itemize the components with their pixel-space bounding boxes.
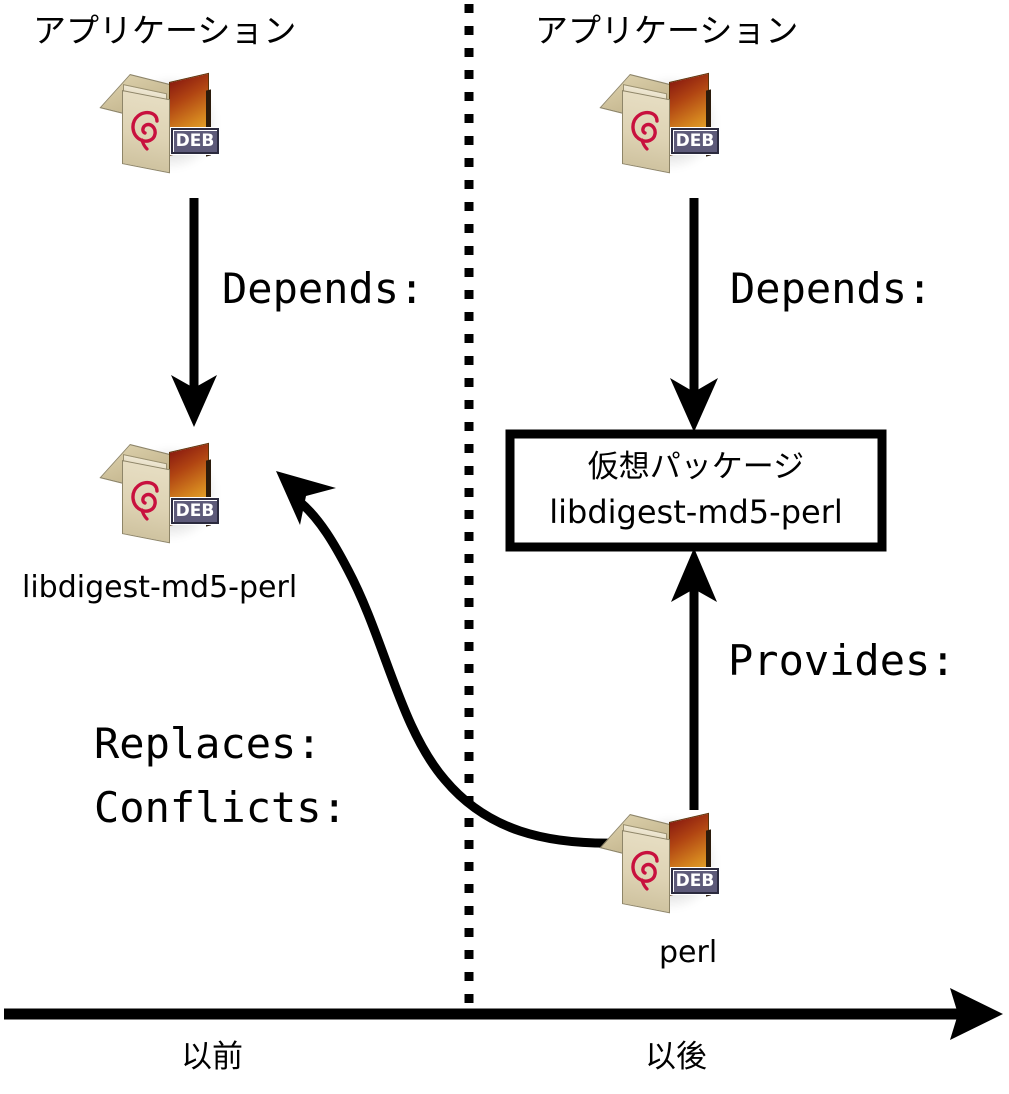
timeline-axis-arrow	[4, 988, 1003, 1040]
timeline-before-label: 以前	[181, 1042, 243, 1073]
right-depends-arrow	[670, 198, 718, 432]
conflicts-label: Conflicts:	[94, 787, 347, 829]
debian-swirl-icon	[127, 478, 167, 522]
debian-swirl-icon	[127, 108, 167, 152]
provides-label: Provides:	[728, 640, 956, 682]
libdigest-md5-perl-deb-package-icon: DEB	[116, 430, 224, 546]
diagram-canvas: アプリケーション アプリケーション DEB	[0, 0, 1009, 1094]
provides-arrow	[671, 548, 717, 810]
perl-deb-package-icon: DEB	[616, 800, 724, 916]
replaces-label: Replaces:	[94, 723, 322, 765]
deb-badge: DEB	[171, 128, 219, 154]
debian-swirl-icon	[627, 108, 667, 152]
virtual-package-name: libdigest-md5-perl	[522, 496, 870, 528]
left-depends-label: Depends:	[222, 268, 424, 310]
timeline-after-label: 以後	[645, 1042, 707, 1073]
left-package-name-label: libdigest-md5-perl	[22, 573, 297, 603]
right-app-title: アプリケーション	[535, 14, 798, 47]
deb-badge: DEB	[171, 498, 219, 524]
left-app-title: アプリケーション	[33, 14, 296, 47]
debian-swirl-icon	[627, 848, 667, 892]
left-app-deb-package-icon: DEB	[116, 60, 224, 176]
right-app-deb-package-icon: DEB	[616, 60, 724, 176]
left-depends-arrow	[171, 198, 217, 427]
virtual-package-title: 仮想パッケージ	[560, 452, 832, 483]
deb-badge: DEB	[671, 128, 719, 154]
right-depends-label: Depends:	[730, 268, 932, 310]
perl-package-name-label: perl	[659, 938, 717, 968]
deb-badge: DEB	[671, 868, 719, 894]
